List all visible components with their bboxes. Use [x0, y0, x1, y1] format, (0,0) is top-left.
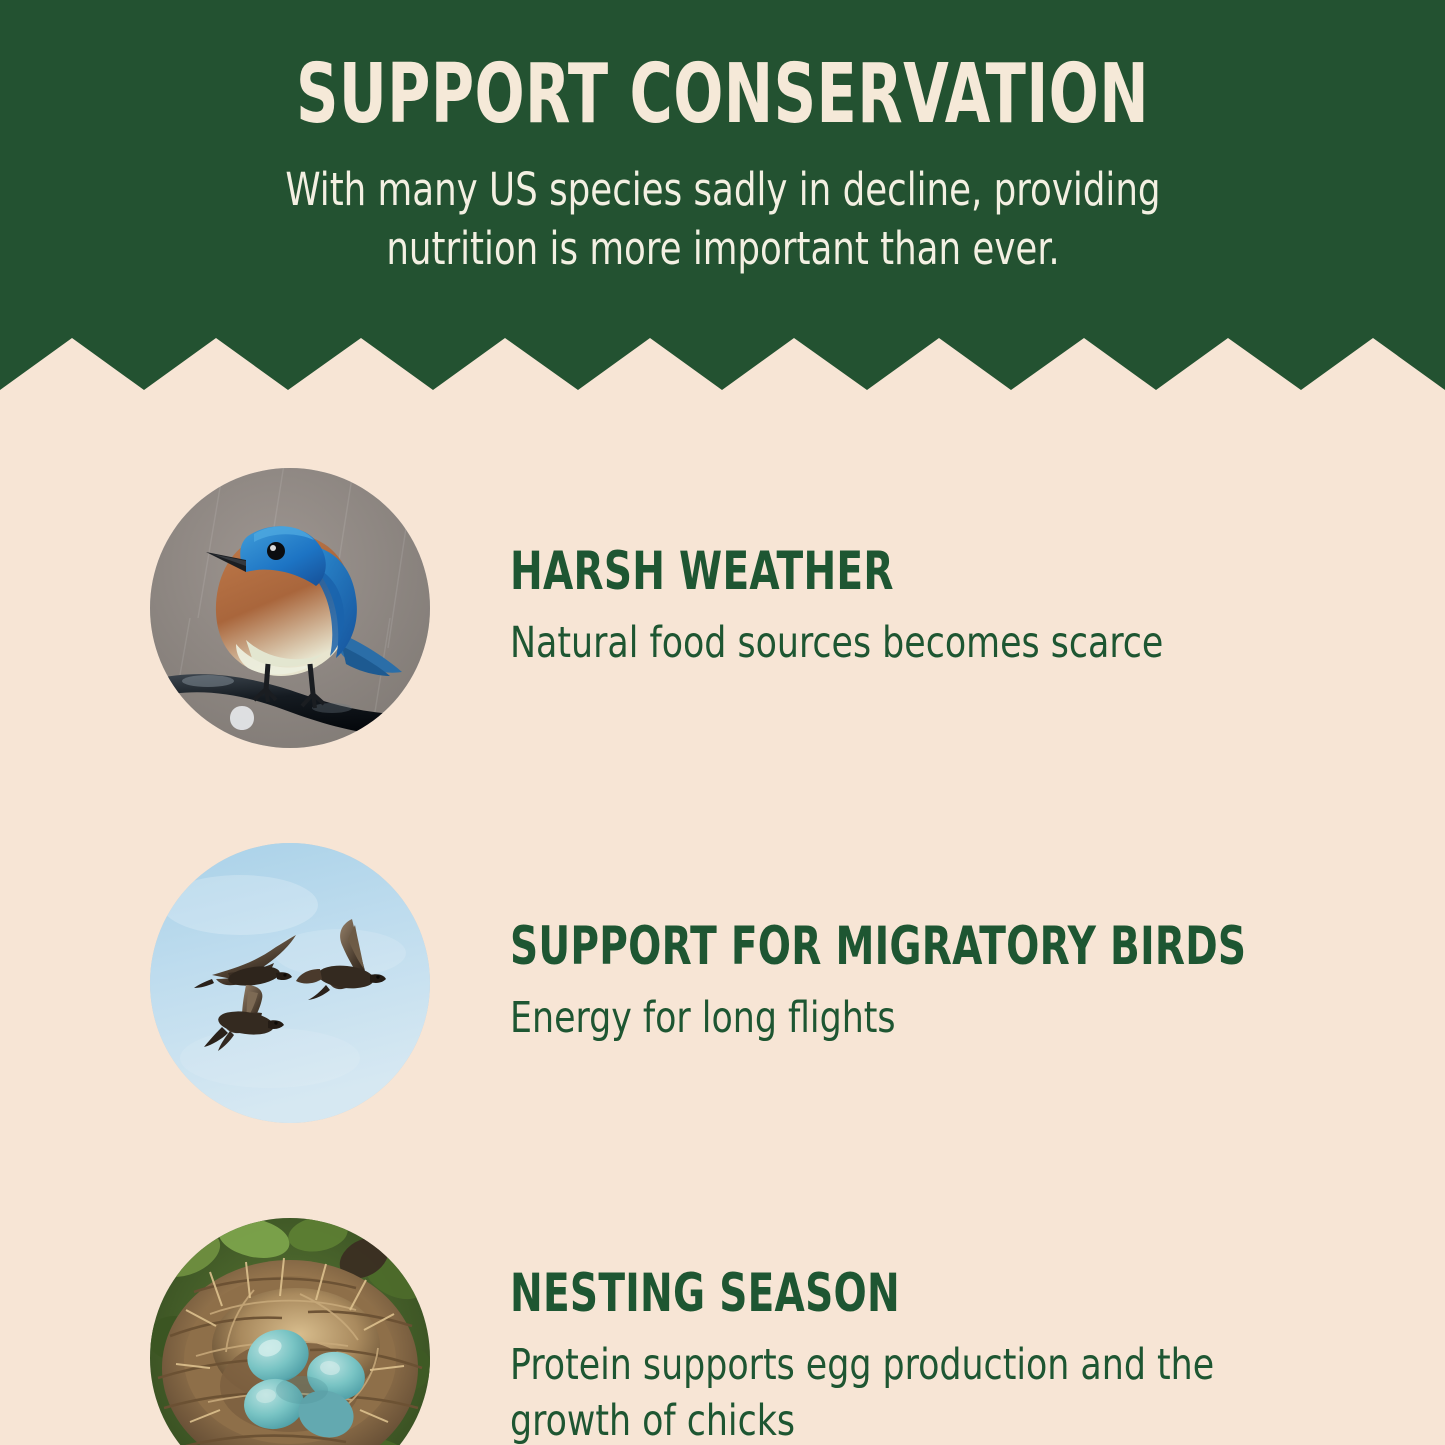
- nest-with-blue-eggs-photo: [150, 1218, 430, 1445]
- page-subtitle: With many US species sadly in decline, p…: [239, 161, 1207, 278]
- page-title: SUPPORT CONSERVATION: [145, 55, 1301, 135]
- feature-row-harsh-weather: HARSH WEATHER Natural food sources becom…: [0, 443, 1445, 773]
- subtitle-line-2: nutrition is more important than ever.: [239, 220, 1207, 279]
- feature-row-nesting-season: NESTING SEASON Protein supports egg prod…: [0, 1193, 1445, 1445]
- bluebird-on-branch-photo: [150, 468, 430, 748]
- migrating-birds-in-flight-photo: [150, 843, 430, 1123]
- feature-title: SUPPORT FOR MIGRATORY BIRDS: [510, 920, 1246, 974]
- feature-text-migratory-birds: SUPPORT FOR MIGRATORY BIRDS Energy for l…: [430, 920, 1445, 1047]
- subtitle-line-1: With many US species sadly in decline, p…: [239, 161, 1207, 220]
- feature-title: NESTING SEASON: [510, 1267, 1178, 1321]
- feature-description: Protein supports egg production and the …: [510, 1338, 1244, 1445]
- feature-text-nesting-season: NESTING SEASON Protein supports egg prod…: [430, 1267, 1445, 1445]
- feature-text-harsh-weather: HARSH WEATHER Natural food sources becom…: [430, 545, 1445, 672]
- header-content: SUPPORT CONSERVATION With many US specie…: [0, 0, 1445, 278]
- feature-title: HARSH WEATHER: [510, 545, 1178, 599]
- infographic-poster: SUPPORT CONSERVATION With many US specie…: [0, 0, 1445, 1445]
- feature-list: HARSH WEATHER Natural food sources becom…: [0, 400, 1445, 1445]
- feature-row-migratory-birds: SUPPORT FOR MIGRATORY BIRDS Energy for l…: [0, 818, 1445, 1148]
- feature-description: Energy for long flights: [510, 991, 1318, 1047]
- header-banner: SUPPORT CONSERVATION With many US specie…: [0, 0, 1445, 390]
- feature-description: Natural food sources becomes scarce: [510, 616, 1244, 672]
